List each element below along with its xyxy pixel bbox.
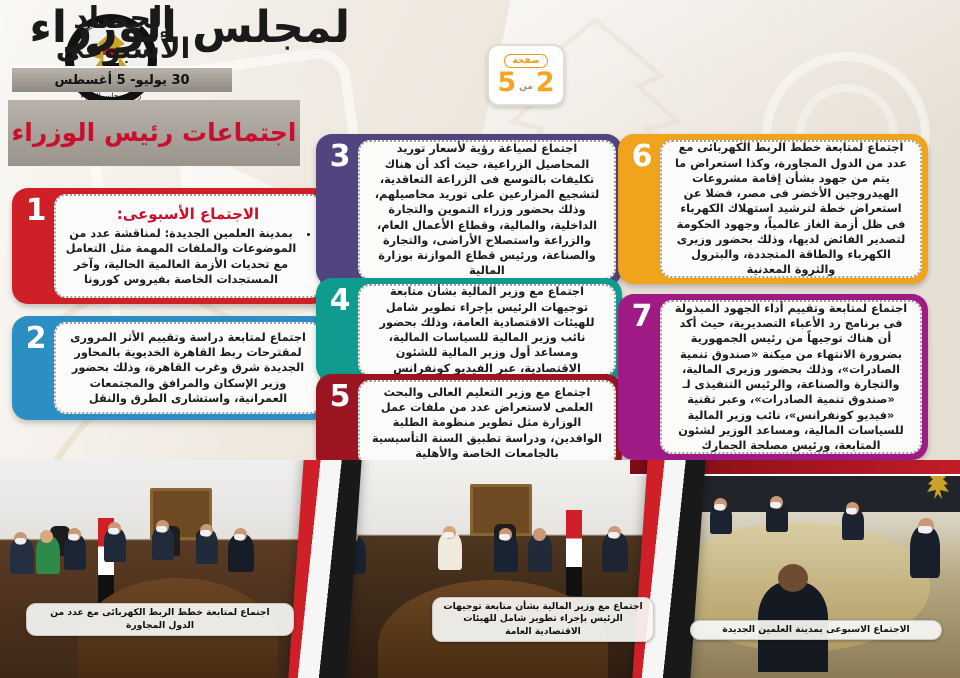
page-header: جمهورية مصر العربية رئاسة مجلس الوزراء ا… <box>0 0 960 120</box>
meeting-card-3[interactable]: 3 اجتماع لصياغة رؤية لأسعار توريد المحاص… <box>316 134 622 286</box>
page-badge-label: صفحة <box>504 54 547 68</box>
card-body-3: اجتماع لصياغة رؤية لأسعار توريد المحاصيل… <box>358 140 616 280</box>
meeting-card-2[interactable]: 2 اجتماع لمتابعة دراسة وتقييم الأثر المر… <box>12 316 328 420</box>
meeting-card-7[interactable]: 7 اجتماع لمتابعة وتقييم أداء الجهود المب… <box>618 294 928 460</box>
photo-strip: اجتماع لمتابعة خطط الربط الكهربائى مع عد… <box>0 460 960 678</box>
photo-middle <box>318 460 670 678</box>
card-number-6: 6 <box>624 140 660 278</box>
card-number-4: 4 <box>322 284 358 376</box>
card-text-2: اجتماع لمتابعة دراسة وتقييم الأثر المرور… <box>65 330 311 406</box>
card-body-2: اجتماع لمتابعة دراسة وتقييم الأثر المرور… <box>54 322 322 414</box>
infographic-page: جمهورية مصر العربية رئاسة مجلس الوزراء ا… <box>0 0 960 678</box>
page-badge-of: من <box>519 82 533 96</box>
photo-left <box>0 460 330 678</box>
card-number-7: 7 <box>624 300 660 454</box>
card-number-5: 5 <box>322 380 358 466</box>
card-body-4: اجتماع مع وزير المالية بشأن متابعة توجيه… <box>358 284 616 376</box>
section-title-text: اجتماعات رئيس الوزراء <box>11 119 296 147</box>
harvest-line-2: الأسبوعى <box>14 34 232 65</box>
card-text-6: اجتماع لمتابعة خطط الربط الكهربائى مع عد… <box>671 140 911 277</box>
card-body-5: اجتماع مع وزير التعليم العالى والبحث الع… <box>358 380 616 466</box>
date-range-text: 30 يوليو- 5 أغسطس <box>54 73 189 88</box>
photo-caption-middle: اجتماع مع وزير المالية بشأن متابعة توجيه… <box>432 597 654 642</box>
card-body-7: اجتماع لمتابعة وتقييم أداء الجهود المبذو… <box>660 300 922 454</box>
section-title-bar: اجتماعات رئيس الوزراء <box>8 100 300 166</box>
card-text-7: اجتماع لمتابعة وتقييم أداء الجهود المبذو… <box>671 301 911 454</box>
meeting-card-5[interactable]: 5 اجتماع مع وزير التعليم العالى والبحث ا… <box>316 374 622 472</box>
card-body-6: اجتماع لمتابعة خطط الربط الكهربائى مع عد… <box>660 140 922 278</box>
card-body-1: الاجتماع الأسبوعى: بمدينة العلمين الجديد… <box>54 194 322 298</box>
harvest-title-block: الحصاد الأسبوعى <box>14 4 232 65</box>
harvest-line-1: الحصاد <box>14 4 232 34</box>
photo-caption-right: الاجتماع الاسبوعى بمدينة العلمين الجديدة <box>690 620 942 640</box>
meeting-card-1[interactable]: 1 الاجتماع الأسبوعى: بمدينة العلمين الجد… <box>12 188 328 304</box>
card-heading-1: الاجتماع الأسبوعى: <box>65 205 311 223</box>
photo-caption-left: اجتماع لمتابعة خطط الربط الكهربائى مع عد… <box>26 603 294 636</box>
card-number-2: 2 <box>18 322 54 414</box>
photo-right <box>662 460 960 678</box>
card-text-3: اجتماع لصياغة رؤية لأسعار توريد المحاصيل… <box>369 141 605 278</box>
page-number-badge: صفحة 2 من 5 <box>487 44 565 106</box>
page-badge-numbers: 2 من 5 <box>497 69 554 96</box>
card-bullet-1-0: بمدينة العلمين الجديدة: لمناقشة عدد من ا… <box>65 226 297 287</box>
card-text-4: اجتماع مع وزير المالية بشأن متابعة توجيه… <box>369 284 605 376</box>
page-badge-current: 2 <box>536 69 555 96</box>
card-bullet-list-1: بمدينة العلمين الجديدة: لمناقشة عدد من ا… <box>65 226 311 287</box>
date-range-bar: 30 يوليو- 5 أغسطس <box>12 66 232 92</box>
meeting-card-6[interactable]: 6 اجتماع لمتابعة خطط الربط الكهربائى مع … <box>618 134 928 284</box>
card-number-1: 1 <box>18 194 54 298</box>
desk-flag-right <box>566 510 582 596</box>
meeting-card-4[interactable]: 4 اجتماع مع وزير المالية بشأن متابعة توج… <box>316 278 622 382</box>
svg-text:رئاسة مجلس الوزراء: رئاسة مجلس الوزراء <box>81 92 142 100</box>
page-badge-total: 5 <box>497 69 516 96</box>
card-text-5: اجتماع مع وزير التعليم العالى والبحث الع… <box>369 385 605 461</box>
card-number-3: 3 <box>322 140 358 280</box>
